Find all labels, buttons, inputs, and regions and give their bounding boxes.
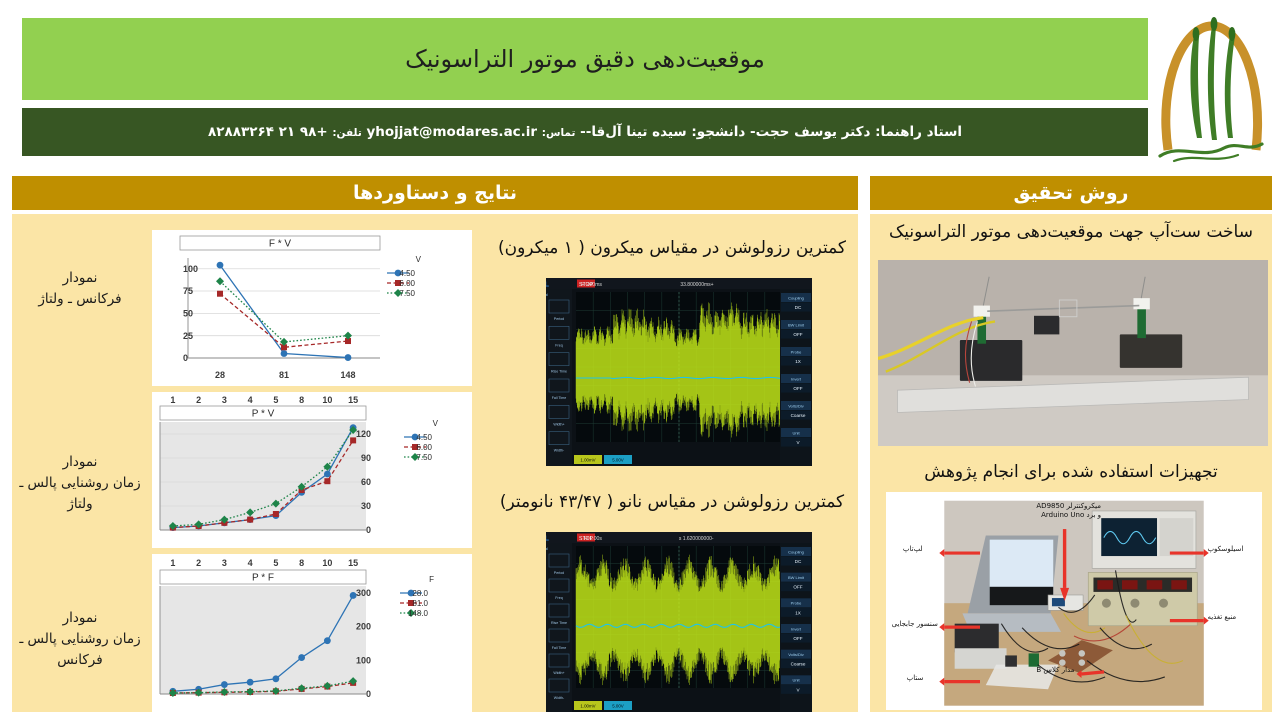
- svg-text:5: 5: [273, 558, 278, 568]
- svg-text:Coupling: Coupling: [788, 295, 804, 300]
- scope-svg: RIGOLSTOPH 200ms+33.800000msHorizontalPe…: [546, 278, 812, 466]
- svg-text:+33.800000ms: +33.800000ms: [680, 282, 713, 288]
- svg-text:5.00V: 5.00V: [612, 458, 624, 463]
- equipment-arrow-label: مدار کلاس B: [1036, 666, 1074, 675]
- svg-text:P * V: P * V: [252, 409, 275, 420]
- equipment-arrow-label: سنسور جابجایی: [892, 620, 938, 629]
- svg-text:Volts/Div: Volts/Div: [788, 403, 804, 408]
- oscilloscope-screenshot-nano: RIGOLSTOPH 1.00s-1.620000000 sHorizontal…: [546, 532, 812, 712]
- equipment-arrow-label: منبع تغذیه: [1207, 613, 1236, 622]
- chart-label-line: نمودار: [14, 608, 146, 629]
- authors-names: استاد راهنما: دکتر یوسف حجت- دانشجو: سید…: [580, 124, 962, 140]
- svg-text:Rise Time: Rise Time: [551, 370, 567, 374]
- svg-text:10: 10: [322, 558, 332, 568]
- university-logo: [1150, 10, 1272, 165]
- svg-text:V: V: [416, 255, 422, 264]
- svg-text:BW Limit: BW Limit: [788, 575, 805, 580]
- svg-text:2: 2: [196, 558, 201, 568]
- svg-text:0: 0: [366, 689, 371, 699]
- svg-text:100: 100: [356, 655, 371, 665]
- chart-p-times-v: P * V03060901201234581015V4.506.007.50: [152, 392, 472, 548]
- chart-label-line: نمودار: [14, 268, 146, 289]
- svg-text:0: 0: [366, 525, 371, 535]
- contact-phone: +۹۸ ۲۱ ۸۲۸۸۳۲۶۴: [208, 124, 328, 140]
- svg-text:60: 60: [361, 477, 371, 487]
- oscilloscope-screenshot-micron: RIGOLSTOPH 200ms+33.800000msHorizontalPe…: [546, 278, 812, 466]
- chart-label-line: زمان روشنایی پالس ـ: [14, 473, 146, 494]
- svg-text:H 200ms: H 200ms: [581, 282, 602, 288]
- svg-text:Probe: Probe: [791, 601, 802, 606]
- svg-text:BW Limit: BW Limit: [788, 322, 805, 327]
- svg-text:Invert: Invert: [791, 376, 802, 381]
- equipment-arrow-label: لپ‌تاپ: [903, 545, 923, 554]
- svg-text:0: 0: [183, 353, 188, 363]
- chart-label-pulse-time-frequency: نمودارزمان روشنایی پالس ـفرکانس: [14, 608, 146, 671]
- poster-root: موقعیت‌دهی دقیق موتور التراسونیک استاد ر…: [0, 0, 1280, 720]
- svg-text:15: 15: [348, 395, 358, 405]
- authors-text: استاد راهنما: دکتر یوسف حجت- دانشجو: سید…: [208, 124, 962, 140]
- svg-text:-Width: -Width: [554, 449, 565, 453]
- svg-text:OFF: OFF: [793, 636, 802, 641]
- svg-text:V: V: [433, 419, 439, 428]
- svg-text:-Width: -Width: [554, 696, 565, 700]
- svg-text:Freq: Freq: [555, 343, 562, 347]
- chart-svg: F * V02550751002881148V4.506.007.50: [152, 230, 472, 386]
- svg-text:Invert: Invert: [791, 626, 802, 631]
- svg-text:DC: DC: [795, 305, 802, 310]
- section-header-results: نتایج و دستاوردها: [12, 176, 858, 210]
- chart-label-line: زمان روشنایی پالس ـ: [14, 629, 146, 650]
- svg-text:81.0: 81.0: [412, 599, 428, 608]
- svg-text:300: 300: [356, 588, 371, 598]
- svg-text:148: 148: [340, 370, 355, 380]
- svg-text:200: 200: [356, 622, 371, 632]
- phone-label: تلفن:: [332, 127, 361, 139]
- chart-svg: P * F01002003001234581015F28.081.0148.0: [152, 554, 472, 712]
- equipment-arrow-label: اسیلوسکوپ: [1207, 545, 1243, 554]
- svg-text:F: F: [429, 575, 434, 584]
- svg-text:1X: 1X: [795, 359, 801, 364]
- svg-text:28.0: 28.0: [412, 589, 428, 598]
- svg-text:Coarse: Coarse: [791, 413, 806, 418]
- svg-text:4.50: 4.50: [399, 269, 415, 278]
- svg-text:Coupling: Coupling: [788, 549, 804, 554]
- svg-text:1.00mV: 1.00mV: [580, 458, 595, 463]
- chart-label-line: فرکانس: [14, 650, 146, 671]
- chart-label-frequency-voltage: نمودارفرکانس ـ ولتاژ: [14, 268, 146, 310]
- svg-text:Probe: Probe: [791, 349, 802, 354]
- chart-label-pulse-time-voltage: نمودارزمان روشنایی پالس ـولتاژ: [14, 452, 146, 515]
- svg-text:P * F: P * F: [252, 573, 274, 584]
- svg-text:3: 3: [222, 395, 227, 405]
- svg-text:90: 90: [361, 453, 371, 463]
- svg-text:Coarse: Coarse: [791, 662, 806, 667]
- setup-photo-illustration: [878, 260, 1268, 446]
- svg-text:8: 8: [299, 395, 304, 405]
- svg-text:1X: 1X: [795, 610, 801, 615]
- equipment-photo-illustration: [886, 492, 1262, 710]
- svg-text:5.00V: 5.00V: [612, 704, 624, 709]
- svg-text:6.00: 6.00: [416, 443, 432, 452]
- svg-text:7.50: 7.50: [399, 289, 415, 298]
- svg-text:Unit: Unit: [792, 430, 800, 435]
- svg-text:DC: DC: [795, 559, 802, 564]
- svg-text:4.50: 4.50: [416, 433, 432, 442]
- svg-text:6.00: 6.00: [399, 279, 415, 288]
- section-header-method-label: روش تحقیق: [1014, 182, 1129, 204]
- chart-f-times-v: F * V02550751002881148V4.506.007.50: [152, 230, 472, 386]
- svg-text:30: 30: [361, 501, 371, 511]
- caption-equipment: تجهیزات استفاده شده برای انجام پژوهش: [874, 462, 1268, 482]
- photo-lab-equipment: اسیلوسکوپمنبع تغذیهلپ‌تاپسنسور جابجاییست…: [886, 492, 1262, 710]
- svg-text:OFF: OFF: [793, 332, 802, 337]
- svg-text:Period: Period: [554, 317, 564, 321]
- scope-svg: RIGOLSTOPH 1.00s-1.620000000 sHorizontal…: [546, 532, 812, 712]
- svg-text:OFF: OFF: [793, 386, 802, 391]
- chart-label-line: ولتاژ: [14, 494, 146, 515]
- svg-text:4: 4: [248, 558, 253, 568]
- svg-text:3: 3: [222, 558, 227, 568]
- svg-text:OFF: OFF: [793, 585, 802, 590]
- svg-text:Freq: Freq: [555, 596, 562, 600]
- svg-text:120: 120: [356, 429, 371, 439]
- svg-text:4: 4: [248, 395, 253, 405]
- svg-text:10: 10: [322, 395, 332, 405]
- poster-title-band: موقعیت‌دهی دقیق موتور التراسونیک: [22, 18, 1148, 100]
- section-header-results-label: نتایج و دستاوردها: [353, 182, 517, 204]
- svg-text:8: 8: [299, 558, 304, 568]
- section-header-method: روش تحقیق: [870, 176, 1272, 210]
- chart-svg: P * V03060901201234581015V4.506.007.50: [152, 392, 472, 548]
- chart-label-line: نمودار: [14, 452, 146, 473]
- contact-email: yhojjat@modares.ac.ir: [366, 124, 537, 140]
- contact-label: تماس:: [542, 127, 576, 139]
- svg-text:100: 100: [183, 264, 198, 274]
- svg-text:Horizontal: Horizontal: [546, 546, 548, 551]
- svg-text:-1.620000000 s: -1.620000000 s: [679, 536, 714, 542]
- svg-text:Fall Time: Fall Time: [552, 396, 567, 400]
- equipment-arrow-label: ستاپ: [907, 674, 924, 683]
- svg-text:1: 1: [170, 395, 175, 405]
- svg-text:28: 28: [215, 370, 225, 380]
- svg-text:1: 1: [170, 558, 175, 568]
- svg-text:2: 2: [196, 395, 201, 405]
- svg-text:Volts/Div: Volts/Div: [788, 652, 804, 657]
- svg-text:7.50: 7.50: [416, 453, 432, 462]
- equipment-arrow-label-microcontroller: میکروکنترلر AD9850و برد Arduino Uno: [1036, 502, 1101, 520]
- caption-micron-resolution: کمترین رزولوشن در مقیاس میکرون ( ۱ میکرو…: [486, 238, 858, 258]
- svg-text:15: 15: [348, 558, 358, 568]
- svg-text:Period: Period: [554, 571, 564, 575]
- svg-text:H 1.00s: H 1.00s: [584, 536, 602, 542]
- caption-nano-resolution: کمترین رزولوشن در مقیاس نانو ( ۴۳/۴۷ نان…: [486, 492, 858, 512]
- svg-text:+Width: +Width: [553, 671, 564, 675]
- svg-text:5: 5: [273, 395, 278, 405]
- label-line: میکروکنترلر AD9850: [1036, 502, 1101, 511]
- svg-text:Rise Time: Rise Time: [551, 621, 567, 625]
- svg-text:81: 81: [279, 370, 289, 380]
- svg-text:Horizontal: Horizontal: [546, 292, 548, 297]
- page-title: موقعیت‌دهی دقیق موتور التراسونیک: [405, 45, 765, 73]
- caption-setup-construction: ساخت ست‌آپ جهت موقعیت‌دهی موتور التراسون…: [874, 222, 1268, 242]
- svg-text:Fall Time: Fall Time: [552, 646, 567, 650]
- label-line: و برد Arduino Uno: [1036, 511, 1101, 520]
- authors-band: استاد راهنما: دکتر یوسف حجت- دانشجو: سید…: [22, 108, 1148, 156]
- svg-text:1.00mV: 1.00mV: [580, 704, 595, 709]
- svg-text:148.0: 148.0: [408, 609, 429, 618]
- svg-text:Unit: Unit: [792, 678, 800, 683]
- chart-p-times-f: P * F01002003001234581015F28.081.0148.0: [152, 554, 472, 712]
- photo-ultrasonic-motor-setup: [878, 260, 1268, 446]
- chart-label-line: فرکانس ـ ولتاژ: [14, 289, 146, 310]
- svg-text:+Width: +Width: [553, 422, 564, 426]
- svg-text:F * V: F * V: [269, 239, 292, 250]
